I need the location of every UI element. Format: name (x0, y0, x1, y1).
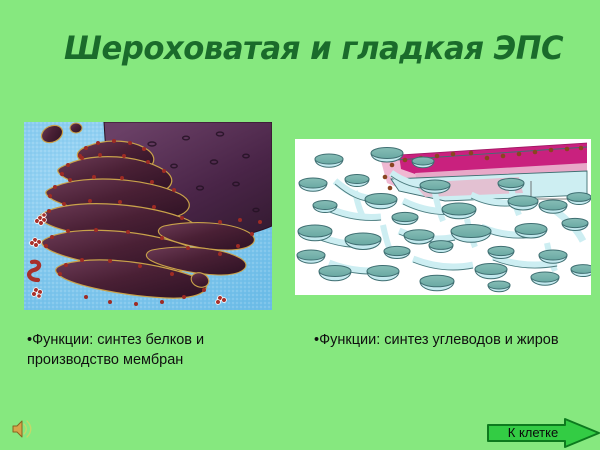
rough-er-illustration (24, 122, 272, 310)
nav-to-cell-button[interactable] (487, 418, 600, 448)
rough-er-image (24, 122, 272, 310)
smooth-er-caption: •Функции: синтез углеводов и жиров (314, 330, 584, 350)
rough-er-caption: •Функции: синтез белков и производство м… (27, 330, 289, 370)
slide-canvas: Шероховатая и гладкая ЭПС (0, 0, 600, 450)
page-title: Шероховатая и гладкая ЭПС (64, 28, 544, 68)
smooth-er-image (295, 139, 591, 295)
smooth-er-illustration (295, 139, 591, 295)
speaker-sound-icon[interactable] (11, 418, 37, 440)
arrow-right-icon (487, 418, 600, 448)
speaker-icon-glyph (11, 418, 37, 440)
